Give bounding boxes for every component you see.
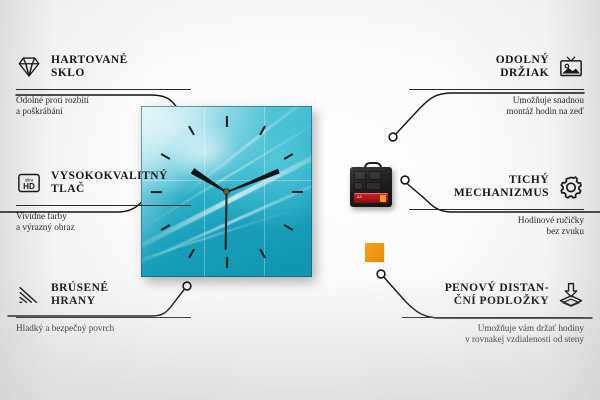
feature-description: Hodinové ručičky bez zvuku: [409, 215, 584, 238]
feature-foam-spacers: PENOVÝ DISTAN- ČNÍ PODLOŽKY Umožňuje vám…: [402, 278, 584, 346]
mechanism-body: AA: [350, 167, 392, 207]
feature-description: Umožňuje snadnou montáž hodin na zeď: [409, 95, 584, 118]
feature-divider: [409, 209, 584, 210]
feature-divider: [16, 89, 191, 90]
feature-durable-holder: ODOLNÝ DRŽIAK Umožňuje snadnou montáž ho…: [409, 50, 584, 118]
feature-description: Umožňuje vám držať hodiny v rovnakej vzd…: [402, 323, 584, 346]
feature-description: Hladký a bezpečný povrch: [16, 323, 191, 334]
feature-divider: [16, 317, 191, 318]
feature-title: TICHÝ MECHANIZMUS: [454, 174, 549, 201]
feature-title: PENOVÝ DISTAN- ČNÍ PODLOŽKY: [445, 282, 549, 309]
diamond-icon: [16, 54, 42, 80]
callout-dot-mechanism: [401, 176, 409, 184]
battery-label: AA: [357, 195, 362, 199]
feature-divider: [409, 89, 584, 90]
feature-tempered-glass: HARTOVANÉ SKLO Odolné proti rozbití a po…: [16, 50, 191, 118]
polished-edges-icon: [16, 282, 42, 308]
svg-text:HD: HD: [23, 182, 35, 191]
feature-silent-mechanism: TICHÝ MECHANIZMUS Hodinové ručičky bez z…: [409, 170, 584, 238]
foam-pad-top: [365, 243, 384, 262]
feature-high-quality-print: ultra HD VYSOKOKVALITNÝ TLAČ Vivídne far…: [16, 166, 191, 234]
foam-spacer-pad: [365, 243, 384, 262]
feature-divider: [402, 317, 584, 318]
picture-hanger-icon: [558, 54, 584, 80]
feature-description: Vivídne farby a výrazný obraz: [16, 211, 191, 234]
clock-mechanism: AA: [350, 167, 392, 207]
battery-terminal: [380, 195, 386, 202]
feature-ground-edges: BRÚSENÉ HRANY Hladký a bezpečný povrch: [16, 278, 191, 334]
feature-description: Odolné proti rozbití a poškrábání: [16, 95, 191, 118]
feature-divider: [16, 205, 191, 206]
feature-title: HARTOVANÉ SKLO: [51, 54, 128, 81]
infographic-canvas: AA HARTOVANÉ SKLO Odolné proti rozbití: [0, 0, 600, 400]
stacked-layers-arrow-icon: [558, 282, 584, 308]
gear-icon: [558, 174, 584, 200]
feature-title: BRÚSENÉ HRANY: [51, 282, 109, 309]
feature-title: ODOLNÝ DRŽIAK: [496, 54, 549, 81]
callout-dot-foam: [377, 270, 385, 278]
aa-battery: AA: [354, 193, 388, 203]
ultra-hd-icon: ultra HD: [16, 170, 42, 196]
feature-title: VYSOKOKVALITNÝ TLAČ: [51, 170, 168, 197]
callout-dot-holder: [389, 133, 397, 141]
